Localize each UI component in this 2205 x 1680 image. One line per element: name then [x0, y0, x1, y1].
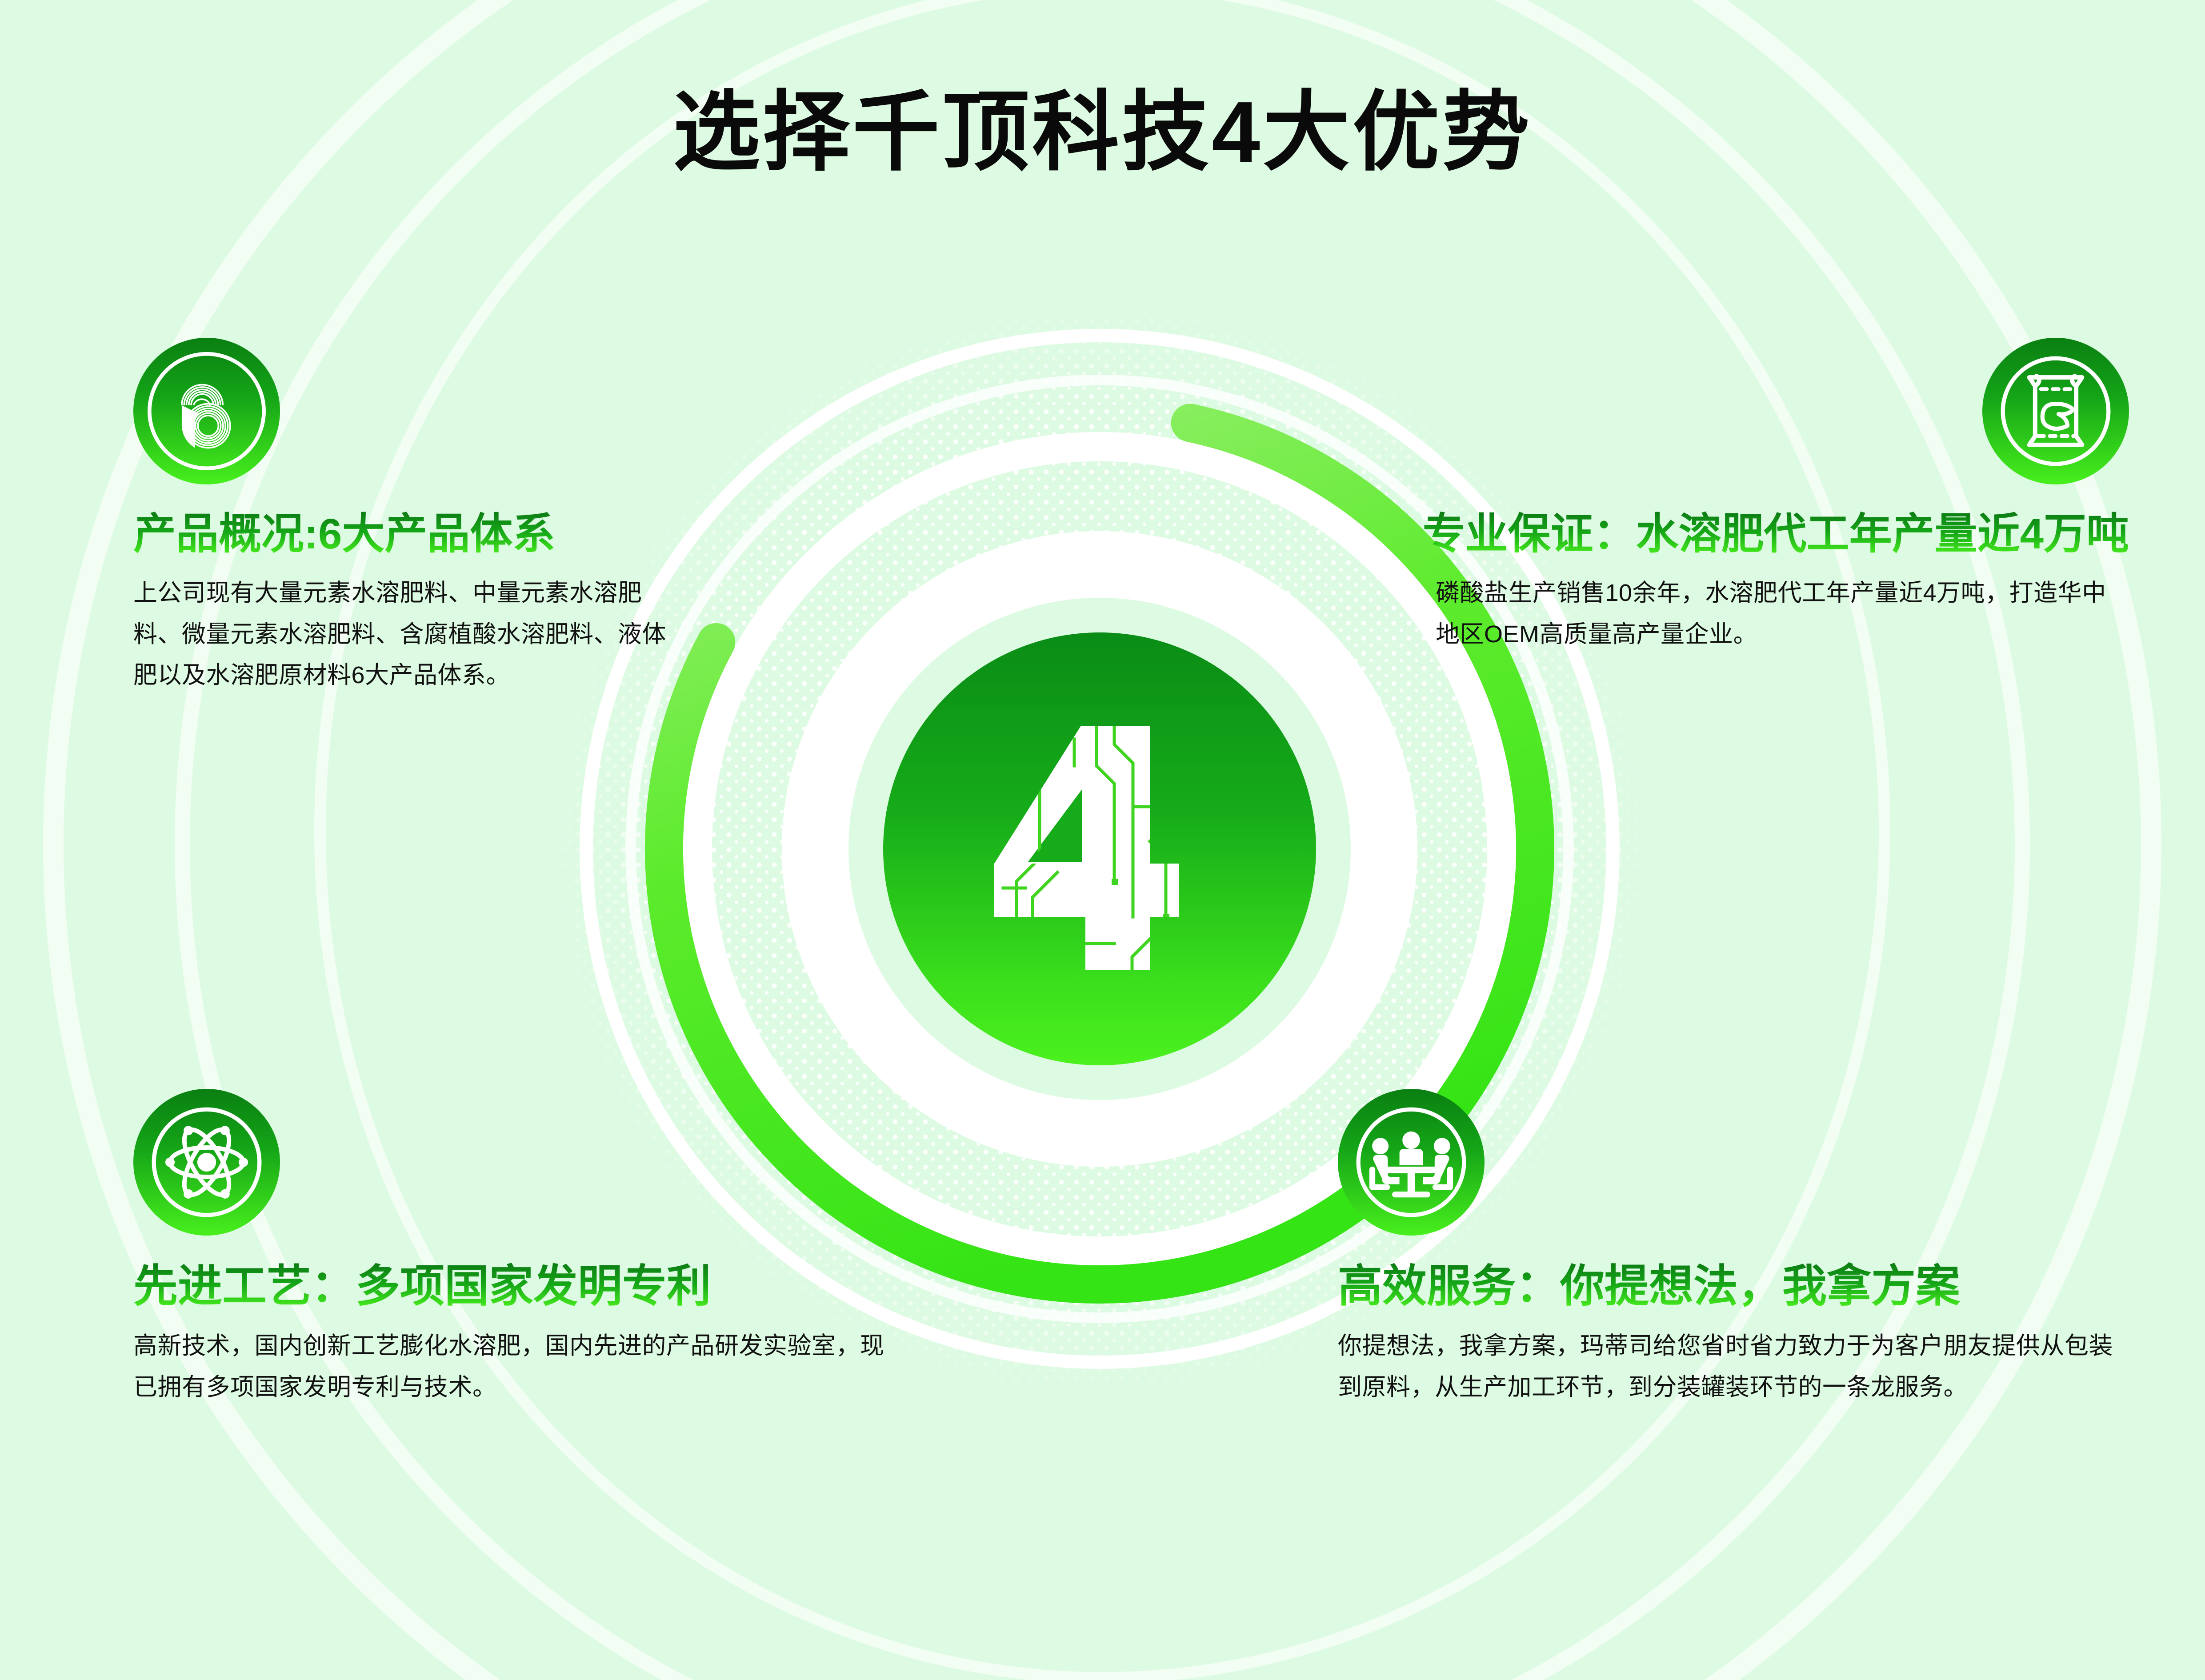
advantage-body-advanced-process: 高新技术，国内创新工艺膨化水溶肥，国内先进的产品研发实验室，现已拥有多项国家发明…: [133, 1325, 889, 1408]
center-number-four: [883, 632, 1316, 1065]
advantage-heading-professional-guarantee: 专业保证：水溶肥代工年产量近4万吨: [1182, 511, 2129, 557]
fertilizer-bag-icon: [1982, 338, 2129, 484]
advantage-body-professional-guarantee: 磷酸盐生产销售10余年，水溶肥代工年产量近4万吨，打造华中地区OEM高质量高产量…: [1436, 572, 2129, 655]
meeting-table-people-icon: [1338, 1089, 1485, 1236]
advantage-heading-advanced-process: 先进工艺：多项国家发明专利: [133, 1262, 898, 1310]
advantage-heading-efficient-service: 高效服务：你提想法，我拿方案: [1338, 1262, 2133, 1310]
number-six-spiral-icon: [133, 338, 280, 484]
page-title: 选择千顶科技4大优势: [0, 89, 2205, 176]
advantage-block-professional-guarantee: 专业保证：水溶肥代工年产量近4万吨 磷酸盐生产销售10余年，水溶肥代工年产量近4…: [1182, 338, 2129, 655]
advantage-heading-product-overview: 产品概况:6大产品体系: [133, 511, 720, 557]
advantage-body-product-overview: 上公司现有大量元素水溶肥料、中量元素水溶肥料、微量元素水溶肥料、含腐植酸水溶肥料…: [133, 572, 680, 696]
advantage-block-efficient-service: 高效服务：你提想法，我拿方案 你提想法，我拿方案，玛蒂司给您省时省力致力于为客户…: [1338, 1089, 2133, 1408]
infographic-canvas: 选择千顶科技4大优势: [0, 0, 2205, 1680]
atom-icon: [133, 1089, 280, 1236]
advantage-body-efficient-service: 你提想法，我拿方案，玛蒂司给您省时省力致力于为客户朋友提供从包装到原料，从生产加…: [1338, 1325, 2133, 1408]
advantage-block-product-overview: 产品概况:6大产品体系 上公司现有大量元素水溶肥料、中量元素水溶肥料、微量元素水…: [133, 338, 720, 696]
advantage-block-advanced-process: 先进工艺：多项国家发明专利 高新技术，国内创新工艺膨化水溶肥，国内先进的产品研发…: [133, 1089, 898, 1408]
